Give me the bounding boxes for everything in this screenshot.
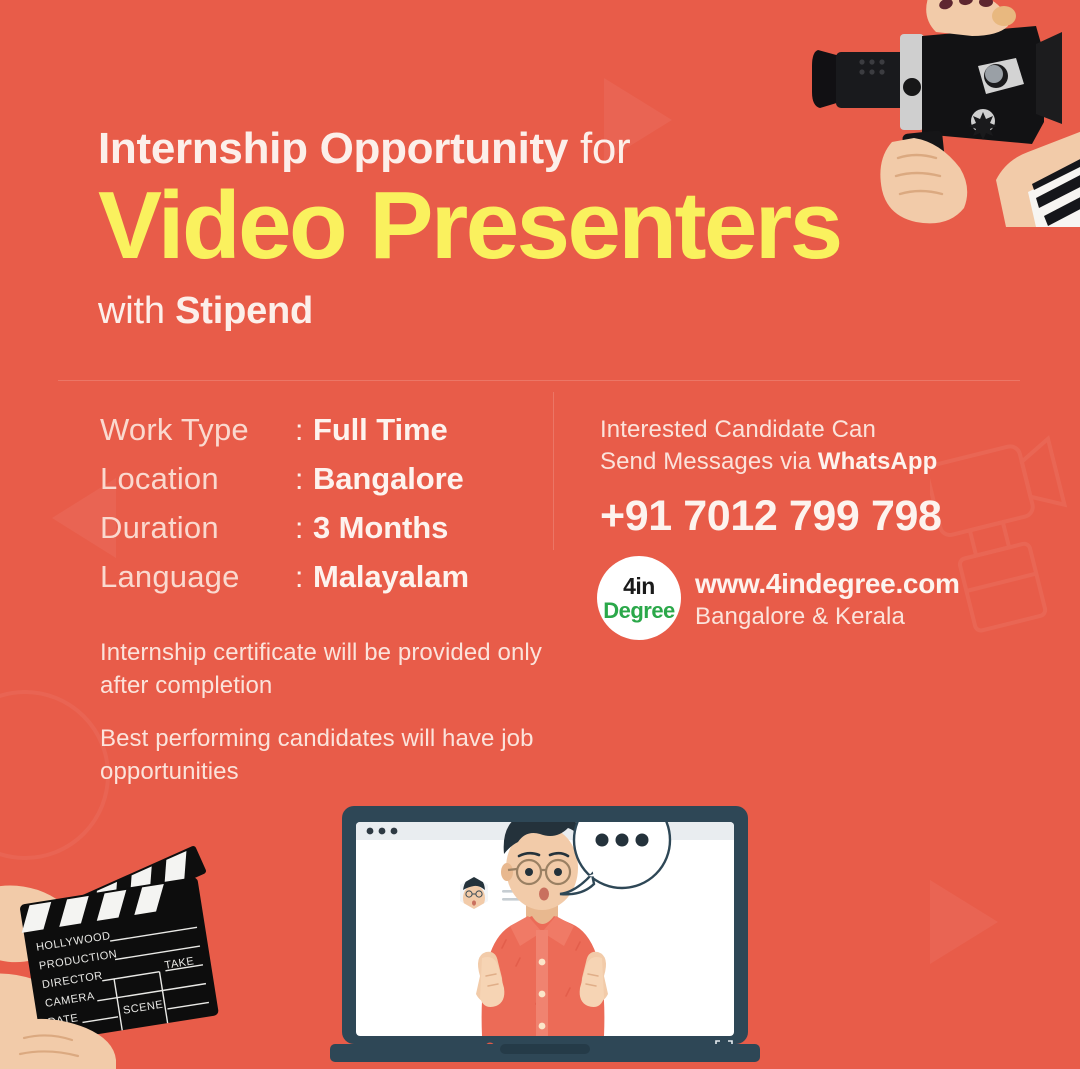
brand-logo-text: www.4indegree.com Bangalore & Kerala (695, 566, 960, 631)
logo-text-4in: 4in (623, 575, 655, 598)
brand-logo-row[interactable]: 4in Degree www.4indegree.com Bangalore &… (597, 556, 960, 640)
note-certificate: Internship certificate will be provided … (100, 636, 580, 702)
detail-colon: : (295, 512, 313, 546)
laptop-trackpad-notch (500, 1044, 590, 1054)
detail-value: Malayalam (313, 559, 469, 595)
phone-number[interactable]: +91 7012 799 798 (600, 492, 1000, 541)
note-job-opportunities: Best performing candidates will have job… (100, 722, 580, 788)
detail-row-language: Language : Malayalam (100, 559, 469, 608)
clapperboard-icon: HOLLYWOOD PRODUCTION DIRECTOR CAMERA DAT… (0, 828, 240, 1069)
contact-lead: Interested Candidate Can Send Messages v… (600, 414, 1000, 478)
notes-block: Internship certificate will be provided … (100, 636, 580, 808)
vintage-film-camera-icon (800, 0, 1080, 227)
headline-line-1-bold: Internship Opportunity (98, 124, 568, 173)
detail-value: Full Time (313, 412, 448, 448)
detail-label: Location (100, 461, 295, 497)
website-url[interactable]: www.4indegree.com (695, 568, 960, 600)
detail-colon: : (295, 463, 313, 497)
poster-canvas: Internship Opportunity for Video Present… (0, 0, 1080, 1069)
detail-label: Duration (100, 510, 295, 546)
window-dot (379, 828, 386, 835)
headline-line-3-bold: Stipend (175, 290, 313, 332)
headline-line-1-light: for (568, 124, 630, 173)
brand-logo-badge: 4in Degree (597, 556, 681, 640)
typing-dots (596, 834, 649, 847)
detail-label: Work Type (100, 412, 295, 448)
office-cities: Bangalore & Kerala (695, 603, 960, 631)
detail-colon: : (295, 414, 313, 448)
window-dot (391, 828, 398, 835)
headline-line-3-light: with (98, 290, 175, 332)
logo-text-degree: Degree (603, 600, 675, 622)
detail-row-duration: Duration : 3 Months (100, 510, 469, 559)
contact-lead-line-1: Interested Candidate Can (600, 416, 876, 443)
window-dot (367, 828, 374, 835)
job-details-list: Work Type : Full Time Location : Bangalo… (100, 412, 469, 608)
detail-label: Language (100, 559, 295, 595)
detail-row-location: Location : Bangalore (100, 461, 469, 510)
vertical-divider (553, 392, 554, 550)
detail-value: Bangalore (313, 461, 464, 497)
detail-value: 3 Months (313, 510, 448, 546)
contact-lead-line-2-light: Send Messages via (600, 448, 818, 475)
watermark-play-triangle-bottom-right (930, 880, 998, 964)
detail-colon: : (295, 561, 313, 595)
headline-line-3: with Stipend (98, 290, 978, 333)
contact-block: Interested Candidate Can Send Messages v… (600, 414, 1000, 541)
laptop-video-call-illustration: 2:14 6:00 (330, 790, 760, 1069)
horizontal-divider (58, 380, 1020, 381)
detail-row-work-type: Work Type : Full Time (100, 412, 469, 461)
whatsapp-label: WhatsApp (818, 448, 937, 475)
